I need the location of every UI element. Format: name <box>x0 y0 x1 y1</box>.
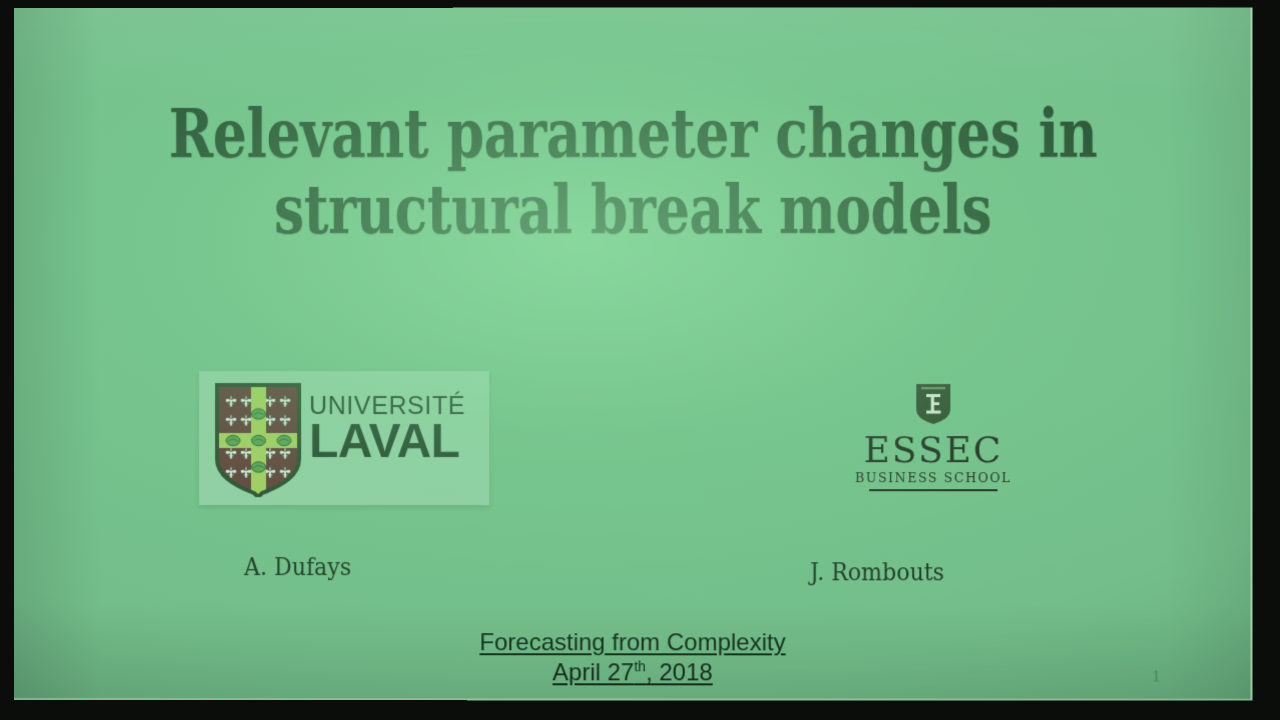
event-date-year: , 2018 <box>646 659 713 686</box>
laval-laval-text: LAVAL <box>309 418 465 466</box>
author-right: J. Rombouts <box>810 558 944 586</box>
page-number: 1 <box>1136 669 1176 687</box>
title-line-2: structural break models <box>138 172 1129 248</box>
title-line-1: Relevant parameter changes in <box>138 96 1129 172</box>
laval-coat-of-arms-icon <box>213 381 303 497</box>
universite-laval-logo: UNIVERSITÉ LAVAL <box>199 371 489 505</box>
event-date: April 27th, 2018 <box>14 658 1252 689</box>
event-name: Forecasting from Complexity <box>14 628 1252 659</box>
slide-surface: Relevant parameter changes in structural… <box>14 7 1252 700</box>
author-left: A. Dufays <box>244 553 351 581</box>
projected-slide-photo: Relevant parameter changes in structural… <box>0 0 1280 720</box>
essec-crest-icon <box>915 383 951 425</box>
event-date-prefix: April 27 <box>553 659 635 686</box>
event-block: Forecasting from Complexity April 27th, … <box>14 628 1252 689</box>
essec-business-school-logo: ESSEC BUSINESS SCHOOL <box>853 383 1013 498</box>
slide-content: Relevant parameter changes in structural… <box>14 7 1252 700</box>
authors-row: A. Dufays J. Rombouts <box>14 553 1252 593</box>
essec-tagline: BUSINESS SCHOOL <box>853 471 1013 485</box>
event-date-ordinal: th <box>634 658 646 674</box>
essec-wordmark: ESSEC <box>853 433 1013 469</box>
laval-wordmark: UNIVERSITÉ LAVAL <box>309 393 465 466</box>
slide-title: Relevant parameter changes in structural… <box>14 95 1252 248</box>
essec-underline-rule <box>869 489 997 491</box>
logo-row: UNIVERSITÉ LAVAL ESSEC BUSINESS SCHOOL <box>14 363 1252 513</box>
